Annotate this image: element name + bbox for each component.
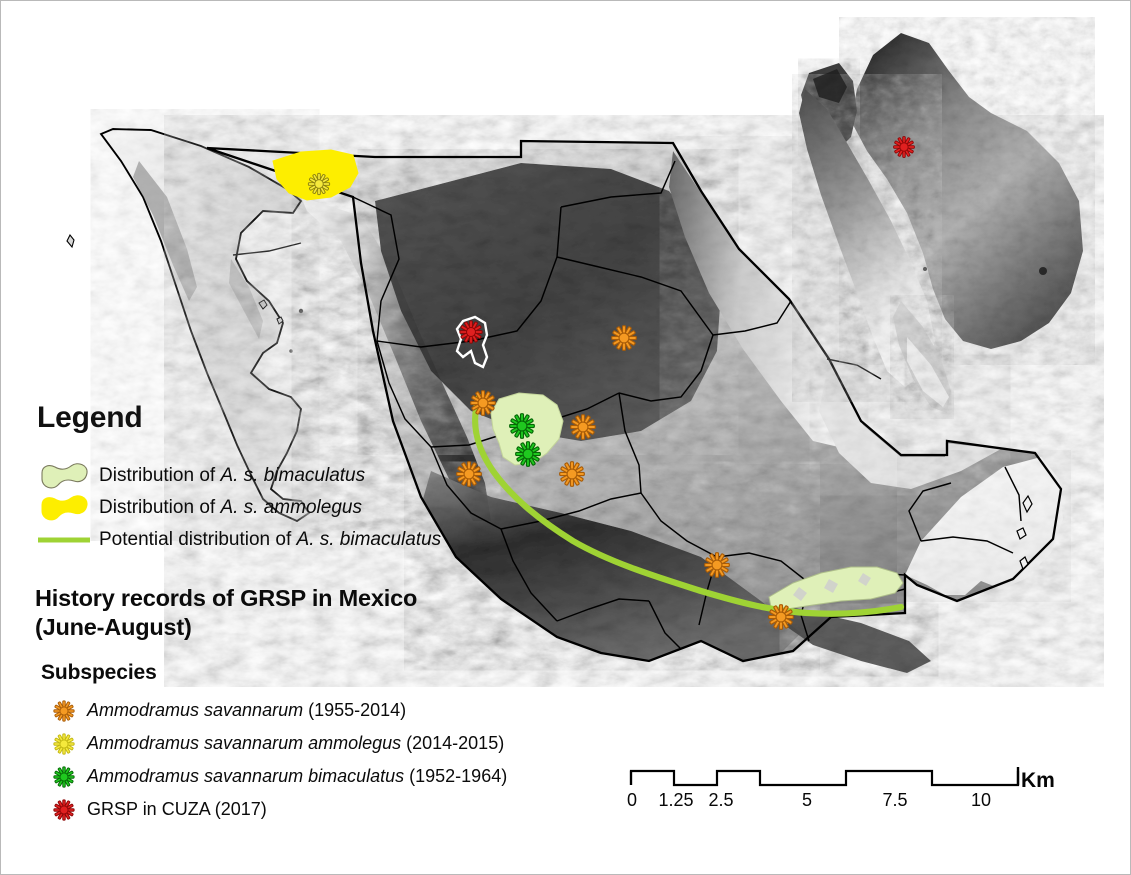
map-figure: Legend Distribution of A. s. bimaculatus… (0, 0, 1131, 875)
polygon-swatch-light-green-icon (35, 461, 93, 491)
legend-item-label: Distribution of A. s. ammolegus (99, 497, 362, 519)
asterisk-marker-green-icon (41, 761, 87, 792)
subspecies-item-cuza: GRSP in CUZA (2017) (41, 794, 601, 825)
subspecies-legend-block: Subspecies Ammodramus savannarum (1955-2… (41, 661, 601, 827)
line-swatch-green-icon (35, 525, 93, 555)
subspecies-item-label: Ammodramus savannarum ammolegus (2014-20… (87, 733, 504, 754)
scale-label: 0 (627, 790, 637, 811)
asterisk-marker-orange-icon (41, 695, 87, 726)
figure-title-line-1: History records of GRSP in Mexico (35, 584, 555, 613)
asterisk-marker-red-icon (41, 794, 87, 825)
legend-item-label: Distribution of A. s. bimaculatus (99, 465, 365, 487)
legend-item-label: Potential distribution of A. s. bimacula… (99, 529, 441, 551)
scale-label: 7.5 (882, 790, 907, 811)
scale-bar-labels: 0 1.25 2.5 5 7.5 10 (629, 790, 1049, 814)
legend-heading: Legend (37, 401, 505, 435)
figure-title-line-2: (June-August) (35, 613, 555, 642)
subspecies-item-savannarum: Ammodramus savannarum (1955-2014) (41, 695, 601, 726)
polygon-swatch-yellow-icon (35, 493, 93, 523)
legend-panel: Legend Distribution of A. s. bimaculatus… (35, 401, 505, 557)
subspecies-item-label: Ammodramus savannarum (1955-2014) (87, 700, 406, 721)
scale-label: 5 (802, 790, 812, 811)
scale-label: 2.5 (708, 790, 733, 811)
scale-label: 1.25 (658, 790, 693, 811)
subspecies-item-ammolegus: Ammodramus savannarum ammolegus (2014-20… (41, 728, 601, 759)
scale-label: 10 (971, 790, 991, 811)
inset-cuza-watershed (799, 33, 1083, 413)
scale-bar-graphic (629, 763, 1049, 791)
subspecies-item-label: Ammodramus savannarum bimaculatus (1952-… (87, 766, 507, 787)
figure-title-block: History records of GRSP in Mexico (June-… (35, 584, 555, 641)
legend-item-ammolegus-distribution: Distribution of A. s. ammolegus (35, 493, 505, 523)
subspecies-heading: Subspecies (41, 661, 601, 685)
subspecies-item-bimaculatus: Ammodramus savannarum bimaculatus (1952-… (41, 761, 601, 792)
scale-bar: Km 0 1.25 2.5 5 7.5 10 (629, 763, 1049, 814)
legend-item-bimaculatus-distribution: Distribution of A. s. bimaculatus (35, 461, 505, 491)
legend-item-potential-distribution: Potential distribution of A. s. bimacula… (35, 525, 505, 555)
asterisk-marker-yellow-icon (41, 728, 87, 759)
subspecies-item-label: GRSP in CUZA (2017) (87, 799, 267, 820)
